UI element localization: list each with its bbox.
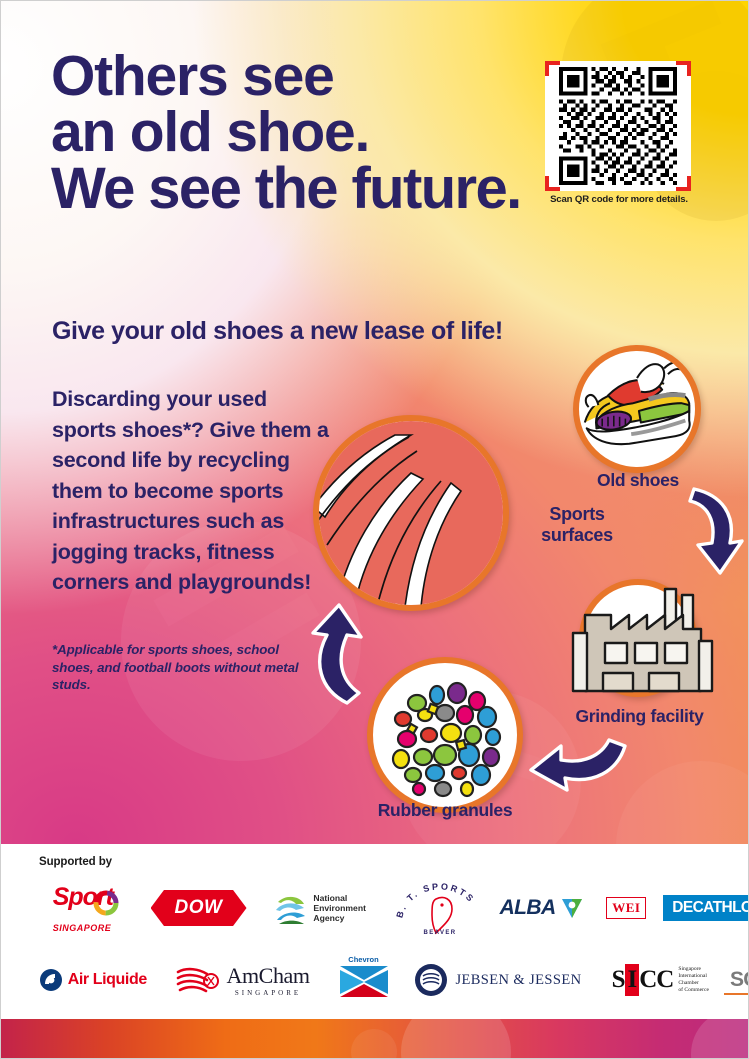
svg-text:BEAVER: BEAVER: [423, 930, 456, 936]
nea-swoosh-icon: [274, 890, 308, 926]
qr-code-block[interactable]: Scan QR code for more details.: [545, 61, 691, 211]
sponsor-logo-row-2: Air Liquide AmCham SINGAPORE: [1, 952, 749, 1008]
logo-chevron: Chevron: [323, 952, 405, 1008]
sgs-underline: [724, 993, 749, 995]
arrow-grinding-to-granules: [521, 736, 633, 798]
rubber-granules-disc: [367, 657, 523, 813]
sicc-sub-3: Chamber: [678, 980, 709, 987]
amcham-flag-icon: [175, 963, 221, 997]
nea-wordmark: National Environment Agency: [313, 893, 366, 923]
sports-surfaces-label: Sports surfaces: [517, 504, 637, 545]
nea-line-2: Environment: [313, 903, 366, 913]
old-shoe-icon: [579, 351, 695, 467]
page-title: Others see an old shoe. We see the futur…: [51, 49, 521, 218]
sports-surfaces-disc: [313, 415, 509, 611]
logo-decathlon: DECATHLON: [663, 878, 749, 938]
bt-sports-beaver-icon: B. T. SPORTS BEAVER: [390, 879, 490, 937]
qr-bracket-top-left-v: [545, 61, 549, 76]
logo-wei: WEI: [589, 878, 663, 938]
nea-line-1: National: [313, 893, 366, 903]
qr-bracket-bottom-left-v: [545, 176, 549, 191]
sicc-wordmark: S: [612, 966, 625, 994]
bottom-color-bar: [1, 1019, 749, 1059]
logo-sport-singapore: Sport SINGAPORE: [23, 878, 143, 938]
jebsen-jessen-wordmark: JEBSEN & JESSEN: [455, 972, 581, 989]
wei-wordmark: WEI: [612, 900, 640, 915]
qr-caption: Scan QR code for more details.: [543, 194, 695, 205]
factory-icon: [561, 581, 721, 711]
dow-diamond-shape: DOW: [151, 890, 247, 926]
logo-national-environment-agency: National Environment Agency: [254, 878, 386, 938]
sport-singapore-ring-icon: [93, 890, 119, 916]
chevron-wordmark: Chevron: [338, 955, 390, 964]
rubber-granules-icon: [373, 663, 517, 807]
logo-bt-sports-beaver: B. T. SPORTS BEAVER: [386, 878, 494, 938]
recycling-poster: Others see an old shoe. We see the futur…: [0, 0, 749, 1059]
headline-line-3: We see the future.: [51, 161, 521, 218]
sgs-wordmark: SGS: [730, 968, 749, 991]
old-shoes-disc: [573, 345, 701, 473]
arrow-old-shoes-to-grinding: [684, 481, 749, 579]
logo-jebsen-jessen: JEBSEN & JESSEN: [404, 952, 590, 1008]
arrow-granules-to-sports-surfaces: [301, 599, 375, 711]
supported-by-label: Supported by: [39, 856, 112, 868]
nea-line-3: Agency: [313, 913, 366, 923]
logo-sicc: S I CC Singapore International Chamber o…: [591, 952, 731, 1008]
sponsor-logo-row-1: Sport SINGAPORE DOW: [1, 878, 749, 938]
qr-bracket-top-right-v: [687, 61, 691, 76]
headline-line-1: Others see: [51, 49, 521, 105]
alba-wordmark: ALBA: [500, 896, 556, 920]
decathlon-box: DECATHLON: [663, 895, 749, 921]
jebsen-jessen-crest-icon: [413, 962, 449, 998]
running-track-icon: [319, 421, 503, 605]
logo-sgs: SGS: [730, 952, 749, 1008]
amcham-wordmark: AmCham: [226, 963, 309, 989]
qr-bracket-bottom-right-v: [687, 176, 691, 191]
decathlon-wordmark: DECATHLON: [672, 899, 749, 916]
chevron-hallmark-icon: [338, 964, 390, 1000]
sicc-subtext: Singapore International Chamber of Comme…: [678, 966, 709, 993]
old-shoes-label: Old shoes: [577, 471, 699, 491]
alba-shield-icon: [560, 896, 584, 920]
air-liquide-mark-icon: [39, 968, 63, 992]
footnote: *Applicable for sports shoes, school sho…: [52, 641, 324, 694]
qr-code-svg: [551, 67, 685, 185]
sicc-sub-2: International: [678, 973, 709, 980]
sicc-cc-mark: CC: [639, 966, 673, 994]
sicc-i-mark: I: [628, 966, 637, 993]
sicc-sub-1: Singapore: [678, 966, 709, 973]
subheadline: Give your old shoes a new lease of life!: [52, 317, 592, 346]
grinding-facility-label: Grinding facility: [557, 707, 722, 727]
dow-wordmark: DOW: [175, 897, 223, 919]
body-copy: Discarding your used sports shoes*? Give…: [52, 384, 332, 598]
amcham-subtext: SINGAPORE: [226, 989, 309, 997]
logo-alba: ALBA: [494, 878, 590, 938]
headline-line-2: an old shoe.: [51, 105, 521, 161]
rubber-granules-label: Rubber granules: [353, 801, 537, 821]
logo-dow: DOW: [143, 878, 255, 938]
logo-air-liquide: Air Liquide: [23, 952, 163, 1008]
sport-singapore-subtext: SINGAPORE: [53, 923, 113, 933]
sicc-sub-4: of Commerce: [678, 987, 709, 994]
qr-code-image[interactable]: [545, 61, 691, 191]
wei-box: WEI: [606, 897, 646, 919]
footer-sponsors: Supported by Sport SINGAPORE: [1, 844, 749, 1019]
logo-amcham-singapore: AmCham SINGAPORE: [163, 952, 323, 1008]
air-liquide-wordmark: Air Liquide: [68, 971, 147, 989]
